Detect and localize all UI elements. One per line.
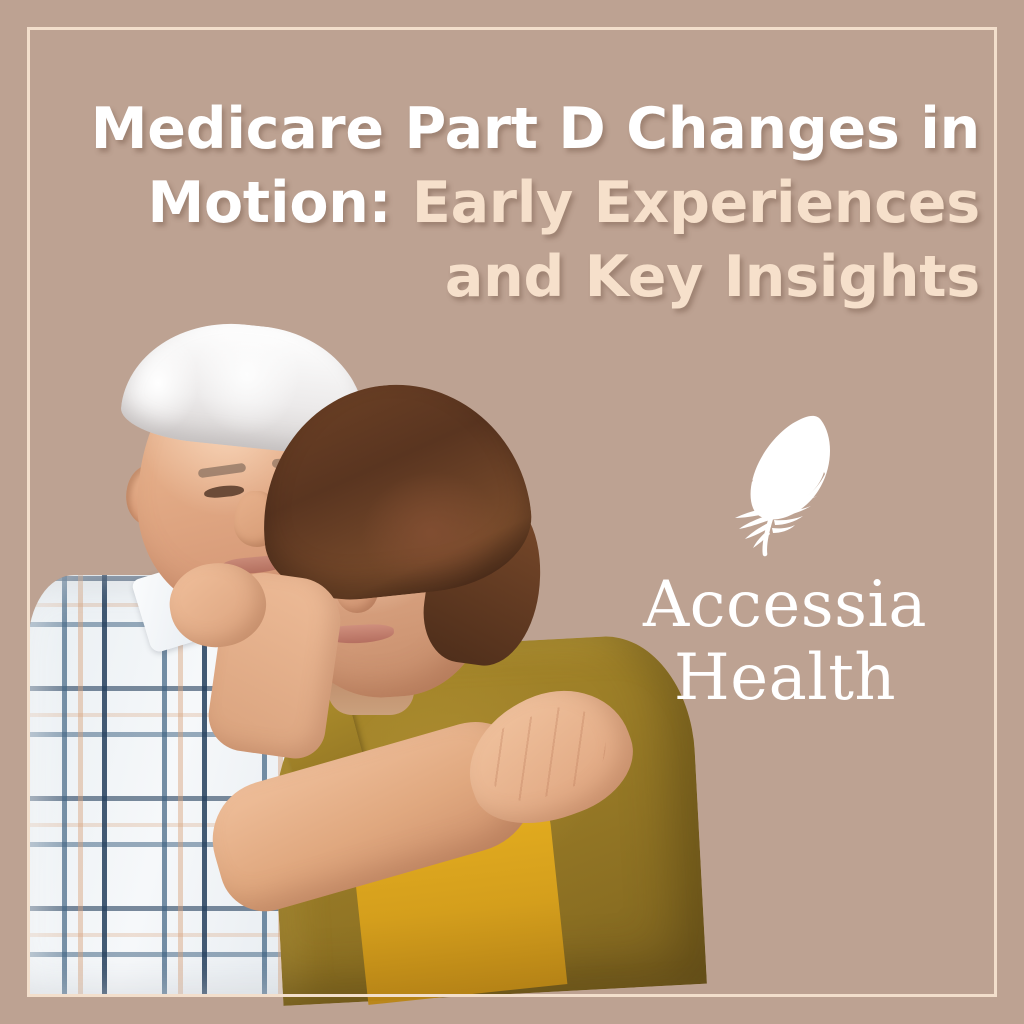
headline-line-1: Medicare Part D Changes in (91, 96, 980, 162)
brand-logo: Accessia Health (620, 408, 950, 709)
headline-line-2-accent: Early Experiences (412, 170, 980, 236)
feather-icon (729, 408, 841, 560)
brand-name-line-2: Health (620, 647, 950, 710)
social-card-canvas: Medicare Part D Changes in Motion: Early… (0, 0, 1024, 1024)
page-title: Medicare Part D Changes in Motion: Early… (40, 92, 980, 314)
headline-line-3-accent: and Key Insights (445, 244, 980, 310)
brand-name-line-1: Accessia (620, 574, 950, 637)
couple-photo (28, 315, 698, 995)
headline-line-2-primary: Motion: (147, 170, 391, 236)
